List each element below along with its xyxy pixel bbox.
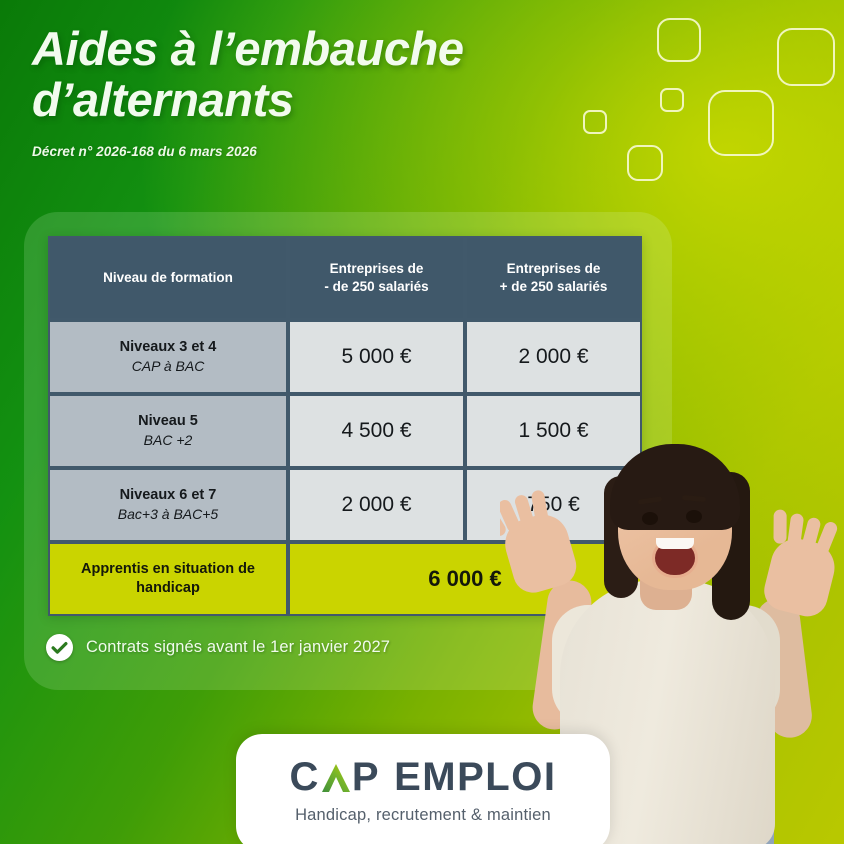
row-level-cell: Niveaux 6 et 7 Bac+3 à BAC+5 <box>48 468 288 542</box>
row-level-cell: Niveau 5 BAC +2 <box>48 394 288 468</box>
cap-emploi-logo-card: C P EMPLOI Handicap, recrutement & maint… <box>236 734 610 844</box>
eye-right <box>686 510 702 523</box>
teeth <box>656 538 694 549</box>
logo-letter-p: P <box>352 757 380 797</box>
contract-deadline-note: Contrats signés avant le 1er janvier 202… <box>46 634 390 661</box>
logo-wordmark: C P EMPLOI <box>290 757 557 797</box>
header: Aides à l’embauche d’alternants Décret n… <box>32 24 592 159</box>
check-circle-icon <box>46 634 73 661</box>
eye-left <box>642 512 658 525</box>
level-main-label: Niveau 5 <box>56 412 280 431</box>
table-header: Niveau de formation Entreprises de - de … <box>48 236 642 320</box>
level-sub-label: BAC +2 <box>56 431 280 450</box>
row-level-cell: Niveaux 3 et 4 CAP à BAC <box>48 320 288 394</box>
small-company-amount: 2 000 € <box>288 468 465 542</box>
large-company-amount: 2 000 € <box>465 320 642 394</box>
column-header-level: Niveau de formation <box>48 236 288 320</box>
handicap-label: Apprentis en situation de handicap <box>56 560 280 598</box>
logo-chevron-a-icon <box>321 762 351 793</box>
small-company-amount: 4 500 € <box>288 394 465 468</box>
column-header-large-company: Entreprises de + de 250 salariés <box>465 236 642 320</box>
logo-letter-c: C <box>290 757 320 797</box>
handicap-level-cell: Apprentis en situation de handicap <box>48 542 288 616</box>
level-main-label: Niveaux 3 et 4 <box>56 338 280 357</box>
note-text: Contrats signés avant le 1er janvier 202… <box>86 638 390 657</box>
decree-subtitle: Décret n° 2026-168 du 6 mars 2026 <box>32 144 592 159</box>
level-sub-label: Bac+3 à BAC+5 <box>56 505 280 524</box>
table-header-row: Niveau de formation Entreprises de - de … <box>48 236 642 320</box>
page-title: Aides à l’embauche d’alternants <box>32 24 592 126</box>
table-row: Niveaux 3 et 4 CAP à BAC 5 000 € 2 000 € <box>48 320 642 394</box>
level-main-label: Niveaux 6 et 7 <box>56 486 280 505</box>
column-header-small-company: Entreprises de - de 250 salariés <box>288 236 465 320</box>
level-sub-label: CAP à BAC <box>56 357 280 376</box>
logo-word-emploi: EMPLOI <box>394 757 556 797</box>
small-company-amount: 5 000 € <box>288 320 465 394</box>
hair-top <box>610 444 740 530</box>
logo-tagline: Handicap, recrutement & maintien <box>295 806 551 825</box>
finger <box>773 510 786 544</box>
